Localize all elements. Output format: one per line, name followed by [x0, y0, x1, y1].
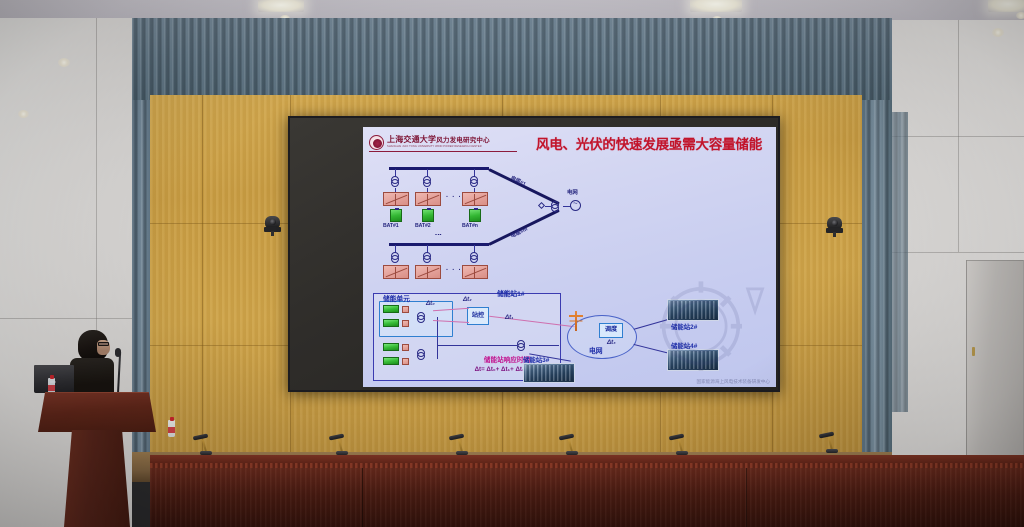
delta-t2-label: Δt₂ [463, 296, 472, 303]
battery-symbol [390, 209, 402, 222]
podium-column [64, 430, 130, 527]
conference-hall-scene: 上海交通大学风力发电研究中心 SHANGHAI JIAO TONG UNIVER… [0, 0, 1024, 527]
table-microphone [328, 435, 356, 455]
microphone-capsule [449, 433, 465, 440]
wall-panel-seam [0, 318, 132, 319]
converter-symbol [402, 344, 409, 351]
battery-label: BAT#1 [383, 223, 399, 229]
vertical-ellipsis: ⋮ [435, 231, 439, 238]
converter-symbol [462, 265, 488, 279]
station-photo-thumbnail [667, 299, 719, 321]
battery-symbol [383, 357, 399, 365]
delta-t1-label: Δt₁ [505, 314, 513, 321]
battery-symbol [422, 209, 434, 222]
ceiling-light [988, 0, 1024, 12]
camera-arm [271, 231, 274, 236]
table-front-panel [150, 468, 1024, 527]
station-thumb-label: 储能站4# [671, 341, 697, 350]
transformer-symbol [423, 252, 436, 261]
storage-unit-label: 储能单元 [383, 293, 410, 303]
podium-microphone-head [115, 348, 121, 357]
delta-t3-label: Δt₃ [607, 339, 616, 346]
ellipsis: · · · [446, 267, 462, 274]
logo-org-name: 上海交通大学风力发电研究中心 [387, 136, 490, 145]
grid-label: 电网 [567, 188, 578, 196]
station-photo-thumbnail [523, 363, 575, 383]
ptz-camera-left [264, 216, 281, 235]
podium-lectern-top [38, 392, 156, 432]
converter-symbol [415, 192, 441, 206]
transformer-symbol [423, 176, 436, 185]
ceiling-light [690, 0, 742, 12]
wall-panel-seam [958, 20, 959, 252]
transformer-symbol [417, 349, 430, 358]
converter-symbol [462, 192, 488, 206]
cable-label-m: 电缆#m [509, 226, 528, 240]
right-stage-curtain-inner [892, 112, 908, 412]
converter-symbol [415, 265, 441, 279]
station-bus-wire [437, 317, 438, 359]
ptz-camera-right [826, 217, 843, 236]
microphone-base [826, 449, 838, 453]
transformer-symbol [417, 312, 430, 321]
transformer-symbol [391, 176, 404, 185]
camera-lens-icon [832, 220, 838, 226]
camera-lens-icon [270, 219, 276, 225]
wall-spotlight [18, 110, 29, 118]
table-microphone [818, 433, 846, 453]
slide-title: 风电、光伏的快速发展亟需大容量储能 [525, 133, 773, 153]
battery-label: BAT#2 [415, 223, 431, 229]
water-bottle [168, 420, 175, 437]
door-handle-icon[interactable] [972, 347, 975, 356]
ceiling-light [258, 0, 304, 12]
ellipsis: · · · [446, 194, 462, 201]
speaker-podium [38, 392, 156, 527]
grid-label: 电网 [589, 345, 602, 355]
battery-symbol [469, 209, 481, 222]
station-photo-thumbnail [667, 349, 719, 371]
converter-symbol [402, 358, 409, 365]
converter-symbol [383, 265, 409, 279]
table-microphone [558, 435, 586, 455]
transformer-symbol [391, 252, 404, 261]
microphone-capsule [669, 433, 685, 440]
system-diagram-bottom: 储能站1# 储能单元 站 [371, 287, 771, 383]
battery-label: BAT#n [462, 223, 478, 229]
station-controller-box: 站控 [467, 307, 489, 325]
projection-screen: 上海交通大学风力发电研究中心 SHANGHAI JIAO TONG UNIVER… [288, 116, 780, 392]
wall-spotlight [992, 28, 1004, 37]
converter-symbol [383, 192, 409, 206]
glasses-icon [98, 342, 109, 346]
dispatch-center-box: 调度 [599, 323, 623, 338]
station-thumb-label: 储能站2# [671, 322, 697, 331]
logo-org-name-en: SHANGHAI JIAO TONG UNIVERSITY WIND POWER… [387, 146, 490, 149]
wall-spotlight [58, 58, 70, 67]
single-line-diagram-top: BAT#1 BAT#2 BAT#n · · · ⋮ · [371, 161, 583, 281]
presentation-slide: 上海交通大学风力发电研究中心 SHANGHAI JIAO TONG UNIVER… [363, 127, 776, 387]
transmission-tower-icon [569, 311, 583, 331]
ceiling-spotlight [1016, 12, 1024, 19]
university-logo: 上海交通大学风力发电研究中心 SHANGHAI JIAO TONG UNIVER… [369, 132, 517, 153]
conference-table [150, 455, 1024, 527]
microphone-capsule [193, 433, 209, 440]
microphone-capsule [559, 433, 575, 440]
transformer-symbol [470, 176, 483, 185]
converter-symbol [402, 306, 409, 313]
table-panel-seam [362, 468, 363, 527]
table-microphone [668, 435, 696, 455]
exit-door[interactable] [966, 260, 1024, 470]
slide-header: 上海交通大学风力发电研究中心 SHANGHAI JIAO TONG UNIVER… [363, 129, 776, 155]
speaker-torso [70, 358, 114, 394]
converter-symbol [402, 320, 409, 327]
table-microphone [448, 435, 476, 455]
microphone-capsule [329, 433, 345, 440]
table-panel-seam [746, 468, 747, 527]
station-bus-wire [437, 345, 517, 346]
battery-symbol [383, 343, 399, 351]
slide-footer: 国家能源海上风电技术装备研发中心 [696, 379, 770, 385]
station-label: 储能站1# [497, 288, 524, 298]
camera-arm [833, 232, 836, 237]
station-thumb-label: 储能站3# [523, 355, 549, 364]
circuit-breaker-symbol [538, 202, 545, 209]
wood-panel-seam [202, 95, 203, 455]
table-microphone [192, 435, 220, 455]
logo-underline [369, 151, 517, 152]
battery-symbol [383, 319, 399, 327]
station-bus-wire [529, 345, 559, 346]
battery-symbol [383, 305, 399, 313]
transformer-symbol [470, 252, 483, 261]
grid-source-symbol [570, 200, 581, 211]
microphone-capsule [819, 431, 835, 438]
university-seal-icon [369, 135, 384, 150]
delta-t0-label: Δt₀ [426, 300, 435, 307]
